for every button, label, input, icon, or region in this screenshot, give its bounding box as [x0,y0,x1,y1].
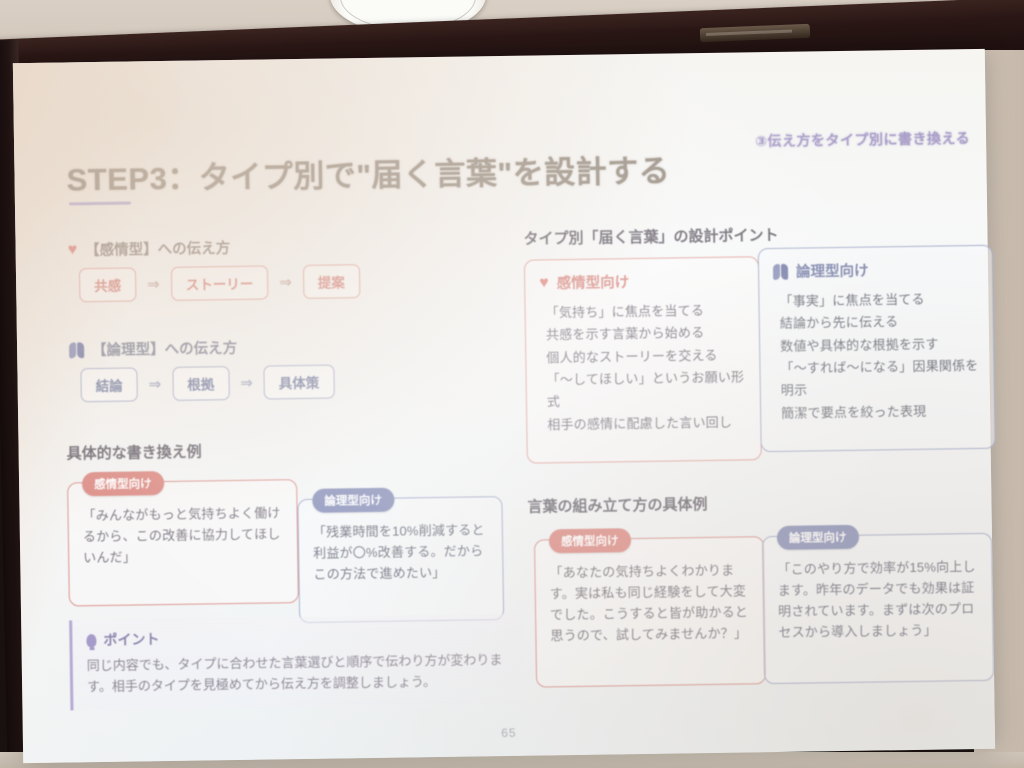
flow-chip-logical-3: 具体策 [264,365,335,400]
flow-chip-logical-1: 結論 [80,367,137,402]
flow-label-logical-text: 【論理型】への伝え方 [92,337,237,360]
flow-label-emotional-text: 【感情型】への伝え方 [85,237,230,260]
flow-label-emotional: ♥ 【感情型】への伝え方 [67,237,230,260]
projected-slide: ③伝え方をタイプ別に書き換える STEP3：タイプ別で"届く言葉"を設計する ♥… [13,49,995,763]
flow-arrow-icon: ⇒ [240,374,253,392]
page-title: STEP3：タイプ別で"届く言葉"を設計する [66,146,670,200]
flow-chip-emotional-3: 提案 [303,264,360,299]
panel-logical: 論理型向け 「事実」に焦点を当てる 結論から先に伝える 数値や具体的な根拠を示す… [758,245,996,452]
flow-arrow-icon: ⇒ [147,275,160,293]
section-heading-rewrite: 具体的な書き換え例 [66,440,201,463]
flow-chip-emotional-2: ストーリー [170,265,268,300]
flow-row-emotional: 共感 ⇒ ストーリー ⇒ 提案 [79,264,360,302]
list-item: 「事実」に焦点を当てる [779,288,978,313]
panel-emotional-head: ♥ 感情型向け [539,269,744,293]
title-underline [69,202,131,206]
example-card-emotional: 感情型向け 「あなたの気持ちよくわかります。実は私も同じ経験をして大変でした。こ… [534,536,766,687]
bulb-icon [86,634,96,647]
flow-arrow-icon: ⇒ [279,273,292,291]
rewrite-card-logical-tag: 論理型向け [312,488,394,513]
example-card-emotional-text: 「あなたの気持ちよくわかります。実は私も同じ経験をして大変でした。こうすると皆が… [549,559,750,646]
flow-row-logical: 結論 ⇒ 根拠 ⇒ 具体策 [80,365,334,403]
example-card-logical-tag: 論理型向け [777,525,859,550]
list-item: 結論から先に伝える [780,310,979,335]
brain-icon [773,263,788,279]
list-item: 簡潔で要点を絞った表現 [781,400,980,425]
point-box-heading: ポイント [86,624,508,650]
rewrite-card-logical: 論理型向け 「残業時間を10%削減すると利益が〇%改善する。だからこの方法で進め… [297,496,504,623]
list-item: 相手の感情に配慮した言い回し [547,411,746,436]
rewrite-card-emotional-text: 「みんながもっと気持ちよく働けるから、この改善に協力してほしいんだ」 [82,502,283,568]
section-heading-example: 言葉の組み立て方の具体例 [527,493,707,517]
list-item: 数値や具体的な根拠を示す [780,333,979,358]
flow-chip-emotional-1: 共感 [79,267,136,302]
panel-emotional: ♥ 感情型向け 「気持ち」に焦点を当てる 共感を示す言葉から始める 個人的なスト… [524,256,762,463]
rewrite-card-logical-text: 「残業時間を10%削減すると利益が〇%改善する。だからこの方法で進めたい」 [313,519,489,585]
slide-content: ③伝え方をタイプ別に書き換える STEP3：タイプ別で"届く言葉"を設計する ♥… [13,49,995,763]
section-heading-design: タイプ別「届く言葉」の設計ポイント [523,224,778,249]
list-item: 「〜すれば〜になる」因果関係を明示 [780,355,980,403]
example-card-emotional-tag: 感情型向け [549,528,631,553]
brain-icon [69,342,84,358]
example-card-logical-text: 「このやり方で効率が15%向上します。昨年のデータでも効果は証明されています。ま… [777,556,978,643]
flow-arrow-icon: ⇒ [149,375,162,393]
list-item: 「気持ち」に焦点を当てる [545,299,744,324]
panel-logical-head: 論理型向け [773,258,978,282]
panel-emotional-title: 感情型向け [557,271,630,293]
heart-icon: ♥ [68,242,78,258]
panel-logical-title: 論理型向け [796,260,869,282]
panel-emotional-list: 「気持ち」に焦点を当てる 共感を示す言葉から始める 個人的なストーリーを交える … [539,299,746,436]
heart-icon: ♥ [539,275,549,291]
list-item: 共感を示す言葉から始める [546,322,745,347]
list-item: 「〜してほしい」というお願い形式 [546,366,746,414]
example-card-logical: 論理型向け 「このやり方で効率が15%向上します。昨年のデータでも効果は証明され… [762,533,994,684]
flow-chip-logical-2: 根拠 [172,366,229,401]
point-box: ポイント 同じ内容でも、タイプに合わせた言葉選びと順序で伝わり方が変わります。相… [69,614,523,710]
point-box-heading-text: ポイント [103,629,159,650]
point-box-text: 同じ内容でも、タイプに合わせた言葉選びと順序で伝わり方が変わります。相手のタイプ… [87,650,510,698]
photo-scene: 7 8 9 ③伝え方をタイプ別に書き換える STEP3：タイプ別で"届く言葉"を… [0,0,1024,768]
rewrite-card-emotional: 感情型向け 「みんながもっと気持ちよく働けるから、この改善に協力してほしいんだ」 [67,479,299,606]
panel-logical-list: 「事実」に焦点を当てる 結論から先に伝える 数値や具体的な根拠を示す 「〜すれば… [773,288,980,425]
rewrite-card-emotional-tag: 感情型向け [82,471,164,496]
page-number: 65 [501,726,517,740]
slide-corner-label: ③伝え方をタイプ別に書き換える [755,128,970,151]
list-item: 個人的なストーリーを交える [546,344,745,369]
flow-label-logical: 【論理型】への伝え方 [69,337,237,360]
